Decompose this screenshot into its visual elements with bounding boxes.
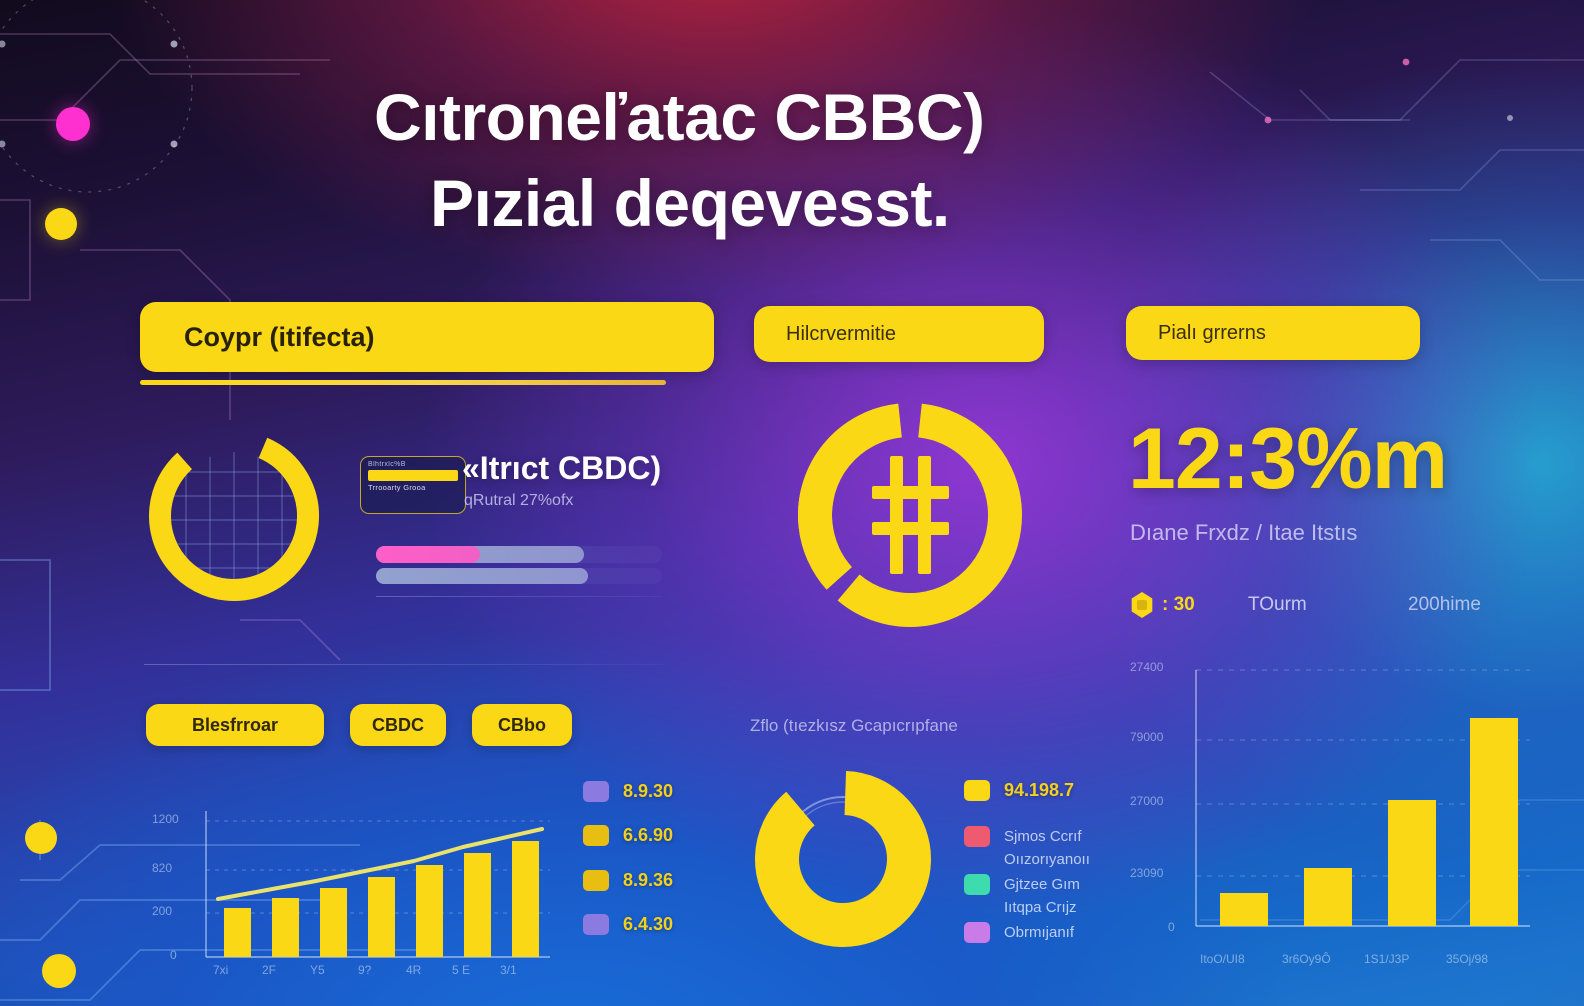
legend-swatch bbox=[583, 781, 609, 802]
legend-swatch bbox=[583, 870, 609, 891]
progress-fill-1 bbox=[376, 546, 480, 563]
infographic-canvas: Cıtroneľatac CBBC) Pızial deqevesst. Coy… bbox=[0, 0, 1584, 1006]
title-line-2: Pızial deqevesst. bbox=[430, 160, 1374, 246]
header-pill-main[interactable]: Coypr (itifecta) bbox=[140, 302, 714, 372]
legend-label: 6.6.90 bbox=[623, 825, 673, 846]
mini-badge-bar bbox=[368, 470, 458, 481]
kpi-subtitle: qRutral 27%ofx bbox=[464, 492, 573, 510]
left-chart-ytick-0: 1200 bbox=[152, 812, 179, 826]
right-chart-xtick-3: 35Oj/98 bbox=[1446, 952, 1488, 966]
left-chart-xtick-4: 4R bbox=[406, 963, 421, 977]
right-chart-xtick-2: 1S1/J3P bbox=[1364, 952, 1409, 966]
coin-value: : 30 bbox=[1162, 594, 1195, 616]
left-chart-ytick-1: 820 bbox=[152, 861, 172, 875]
left-chart-xtick-2: Y5 bbox=[310, 963, 325, 977]
stat-middle: TOurm bbox=[1248, 594, 1307, 616]
legend-swatch bbox=[964, 826, 990, 847]
center-legend-item-3: Obrmıjanıf bbox=[964, 922, 1074, 943]
right-chart-ytick-1: 79000 bbox=[1130, 730, 1163, 744]
center-chart-title: Zflo (tıezkısz Gcapıcrıpfane bbox=[750, 716, 958, 736]
right-chart-ytick-2: 27000 bbox=[1130, 794, 1163, 808]
legend-swatch bbox=[583, 825, 609, 846]
left-chart-legend-item-2: 8.9.36 bbox=[583, 870, 673, 891]
stat-right: 200hime bbox=[1408, 594, 1481, 616]
center-legend-item-2: Gjtzee Gım bbox=[964, 874, 1080, 895]
big-stat-subtitle: Dıane Frxdz / Itae Itstıs bbox=[1130, 520, 1357, 546]
header-pill-middle[interactable]: Hilcrvermitie bbox=[754, 306, 1044, 362]
left-chart-xtick-5: 5 E bbox=[452, 963, 470, 977]
legend-label: Gjtzee Gım bbox=[1004, 876, 1080, 893]
right-chart-xtick-0: ItoO/UI8 bbox=[1200, 952, 1245, 966]
center-legend-item-0: 94.198.7 bbox=[964, 780, 1074, 801]
right-chart-ytick-0: 27400 bbox=[1130, 660, 1163, 674]
center-legend-item-1: Sjmos Ccrıf bbox=[964, 826, 1082, 847]
left-chart-legend-item-0: 8.9.30 bbox=[583, 781, 673, 802]
page-title: Cıtroneľatac CBBC) Pızial deqevesst. bbox=[374, 74, 1374, 246]
chip-0[interactable]: Blesfrroar bbox=[146, 704, 324, 746]
hash-ring-widget bbox=[790, 392, 1030, 638]
ring-gauge bbox=[146, 428, 322, 604]
left-section-divider bbox=[144, 664, 664, 665]
left-chart-xtick-0: 7xi bbox=[213, 963, 228, 977]
ring-gauge-dot-orbit bbox=[0, 0, 202, 202]
header-pill-right[interactable]: Pialı grrerns bbox=[1126, 306, 1420, 360]
decor-dot-yellow-bottom bbox=[42, 954, 76, 988]
left-chart-legend-item-1: 6.6.90 bbox=[583, 825, 673, 846]
mini-badge-bottom-text: Trrooarty Grooa bbox=[361, 483, 465, 492]
left-chart-ytick-3: 0 bbox=[170, 948, 177, 962]
legend-label: 8.9.30 bbox=[623, 781, 673, 802]
legend-sublabel: Oıızorıyanoıı bbox=[1004, 851, 1090, 868]
left-chart-legend-item-3: 6.4.30 bbox=[583, 914, 673, 935]
big-stat-value: 12:3%m bbox=[1128, 410, 1447, 509]
legend-swatch bbox=[964, 874, 990, 895]
center-donut-chart bbox=[752, 768, 934, 950]
progress-track-1[interactable] bbox=[376, 546, 584, 563]
left-chart-ytick-2: 200 bbox=[152, 904, 172, 918]
left-chart-xtick-6: 3/1 bbox=[500, 963, 517, 977]
legend-label: 6.4.30 bbox=[623, 914, 673, 935]
left-chart-xtick-3: 9? bbox=[358, 963, 371, 977]
decor-dot-yellow-mid bbox=[25, 822, 57, 854]
mini-badge-top-text: Blhtrxlc%B bbox=[361, 457, 465, 468]
decor-dot-yellow-top bbox=[45, 208, 77, 240]
hash-icon bbox=[872, 456, 949, 574]
right-chart-ytick-3: 23090 bbox=[1130, 866, 1163, 880]
title-line-1: Cıtroneľatac CBBC) bbox=[374, 80, 985, 154]
header-pill-underline bbox=[140, 380, 666, 385]
right-chart-ytick-4: 0 bbox=[1168, 920, 1175, 934]
left-chart-xtick-1: 2F bbox=[262, 963, 276, 977]
center-legend-sub-1: Oıızorıyanoıı bbox=[1004, 851, 1090, 868]
legend-swatch bbox=[583, 914, 609, 935]
legend-label: 8.9.36 bbox=[623, 870, 673, 891]
chip-2[interactable]: CBbo bbox=[472, 704, 572, 746]
legend-swatch bbox=[964, 922, 990, 943]
progress-divider bbox=[376, 596, 662, 597]
legend-sublabel: Iıtqpa Crıjz bbox=[1004, 899, 1077, 916]
right-bar-series bbox=[1220, 718, 1518, 926]
coin-icon bbox=[1130, 592, 1154, 618]
legend-label: Obrmıjanıf bbox=[1004, 924, 1074, 941]
progress-track-2[interactable] bbox=[376, 568, 588, 584]
kpi-title: «Itrıct CBDC) bbox=[462, 450, 661, 487]
mini-badge-card: Blhtrxlc%B Trrooarty Grooa bbox=[360, 456, 466, 514]
center-legend-sub-2: Iıtqpa Crıjz bbox=[1004, 899, 1077, 916]
chip-1[interactable]: CBDC bbox=[350, 704, 446, 746]
legend-label: 94.198.7 bbox=[1004, 780, 1074, 801]
legend-label: Sjmos Ccrıf bbox=[1004, 828, 1082, 845]
legend-swatch bbox=[964, 780, 990, 801]
right-chart-xtick-1: 3r6Oy9Ô bbox=[1282, 952, 1331, 966]
left-bar-series bbox=[224, 841, 539, 957]
